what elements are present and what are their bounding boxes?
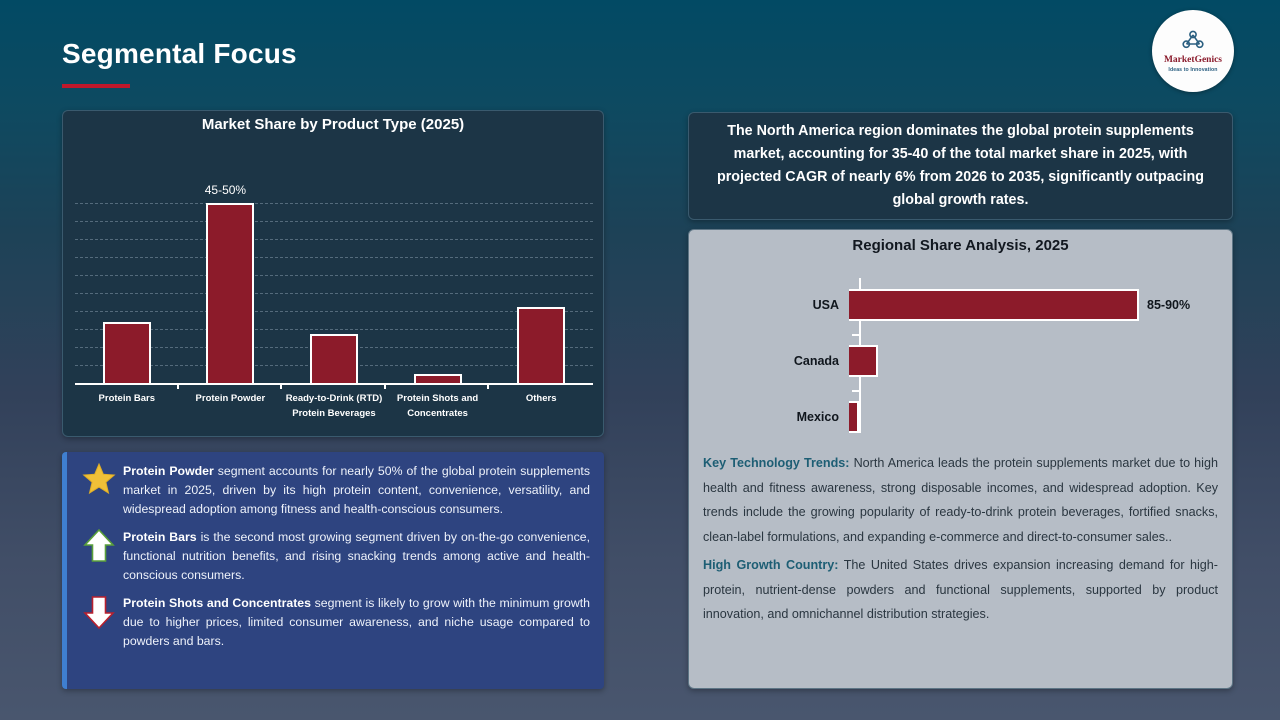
- insight-lead: Protein Powder: [123, 464, 214, 478]
- insight-lead: Protein Shots and Concentrates: [123, 596, 311, 610]
- region-bar-row: USA85-90%: [689, 286, 1232, 324]
- insight-text: Protein Powder segment accounts for near…: [123, 462, 592, 519]
- region-bar-row: Canada: [689, 342, 1232, 380]
- bar-slot: [75, 203, 179, 383]
- vertical-bar-series: 45-50%: [75, 203, 593, 383]
- market-share-chart-panel: Market Share by Product Type (2025) 45-5…: [62, 110, 604, 437]
- regional-insights-text: Key Technology Trends: North America lea…: [689, 437, 1232, 641]
- regional-bar-chart: USA85-90%CanadaMexico: [689, 272, 1232, 437]
- bar-slot: [489, 203, 593, 383]
- bar[interactable]: [103, 322, 151, 383]
- x-axis-tick: [489, 383, 593, 389]
- left-chart-plot-area: 45-50%: [75, 203, 593, 383]
- region-label: Mexico: [689, 410, 849, 424]
- network-nodes-icon: [1180, 30, 1206, 55]
- callout-text: The North America region dominates the g…: [703, 120, 1218, 213]
- key-technology-trends-label: Key Technology Trends:: [703, 456, 850, 470]
- region-bar-track: [849, 342, 1232, 380]
- key-technology-trends-paragraph: Key Technology Trends: North America lea…: [703, 451, 1218, 549]
- insight-row: Protein Powder segment accounts for near…: [75, 462, 592, 519]
- x-axis-ticks: [75, 383, 593, 389]
- arrow-down-icon: [75, 594, 123, 630]
- marketgenics-logo: MarketGenics Ideas to Innovation: [1152, 10, 1234, 92]
- x-axis-tick: [282, 383, 386, 389]
- x-axis-label: Protein Bars: [75, 392, 179, 421]
- x-axis-label: Protein Powder: [179, 392, 283, 421]
- bar-slot: 45-50%: [179, 203, 283, 383]
- left-chart-title: Market Share by Product Type (2025): [63, 116, 603, 133]
- region-bar-track: 85-90%: [849, 286, 1232, 324]
- logo-tagline: Ideas to Innovation: [1168, 67, 1217, 73]
- bar[interactable]: [517, 307, 565, 383]
- region-label: USA: [689, 298, 849, 312]
- insight-text: Protein Bars is the second most growing …: [123, 528, 592, 585]
- logo-name: MarketGenics: [1164, 56, 1222, 66]
- x-axis-tick: [179, 383, 283, 389]
- bar[interactable]: [310, 334, 358, 383]
- x-axis-tick: [386, 383, 490, 389]
- region-bar[interactable]: [849, 401, 859, 433]
- north-america-callout: The North America region dominates the g…: [688, 112, 1233, 220]
- y-axis-tick: [852, 390, 859, 392]
- high-growth-country-paragraph: High Growth Country: The United States d…: [703, 553, 1218, 627]
- title-underline-accent: [62, 84, 130, 88]
- high-growth-country-label: High Growth Country:: [703, 558, 838, 572]
- insight-lead: Protein Bars: [123, 530, 197, 544]
- arrow-up-icon: [75, 528, 123, 564]
- x-axis-labels: Protein BarsProtein PowderReady-to-Drink…: [75, 392, 593, 421]
- region-bar-value: 85-90%: [1147, 298, 1190, 312]
- x-axis-label: Ready-to-Drink (RTD) Protein Beverages: [282, 392, 386, 421]
- x-axis-tick: [75, 383, 179, 389]
- insight-row: Protein Bars is the second most growing …: [75, 528, 592, 585]
- insights-panel: Protein Powder segment accounts for near…: [62, 452, 604, 689]
- bar-slot: [386, 203, 490, 383]
- region-label: Canada: [689, 354, 849, 368]
- region-bar-track: [849, 398, 1232, 436]
- page-title: Segmental Focus: [62, 38, 297, 70]
- x-axis-label: Protein Shots and Concentrates: [386, 392, 490, 421]
- insight-text: Protein Shots and Concentrates segment i…: [123, 594, 592, 651]
- bar[interactable]: 45-50%: [206, 203, 254, 383]
- region-bar[interactable]: [849, 289, 1139, 321]
- insight-row: Protein Shots and Concentrates segment i…: [75, 594, 592, 651]
- y-axis-tick: [852, 334, 859, 336]
- star-icon: [75, 462, 123, 496]
- right-chart-title: Regional Share Analysis, 2025: [689, 237, 1232, 254]
- bar[interactable]: [414, 374, 462, 383]
- bar-data-label: 45-50%: [205, 183, 246, 197]
- regional-analysis-panel: Regional Share Analysis, 2025 USA85-90%C…: [688, 229, 1233, 689]
- x-axis-label: Others: [489, 392, 593, 421]
- region-bar[interactable]: [849, 345, 878, 377]
- bar-slot: [282, 203, 386, 383]
- region-bar-row: Mexico: [689, 398, 1232, 436]
